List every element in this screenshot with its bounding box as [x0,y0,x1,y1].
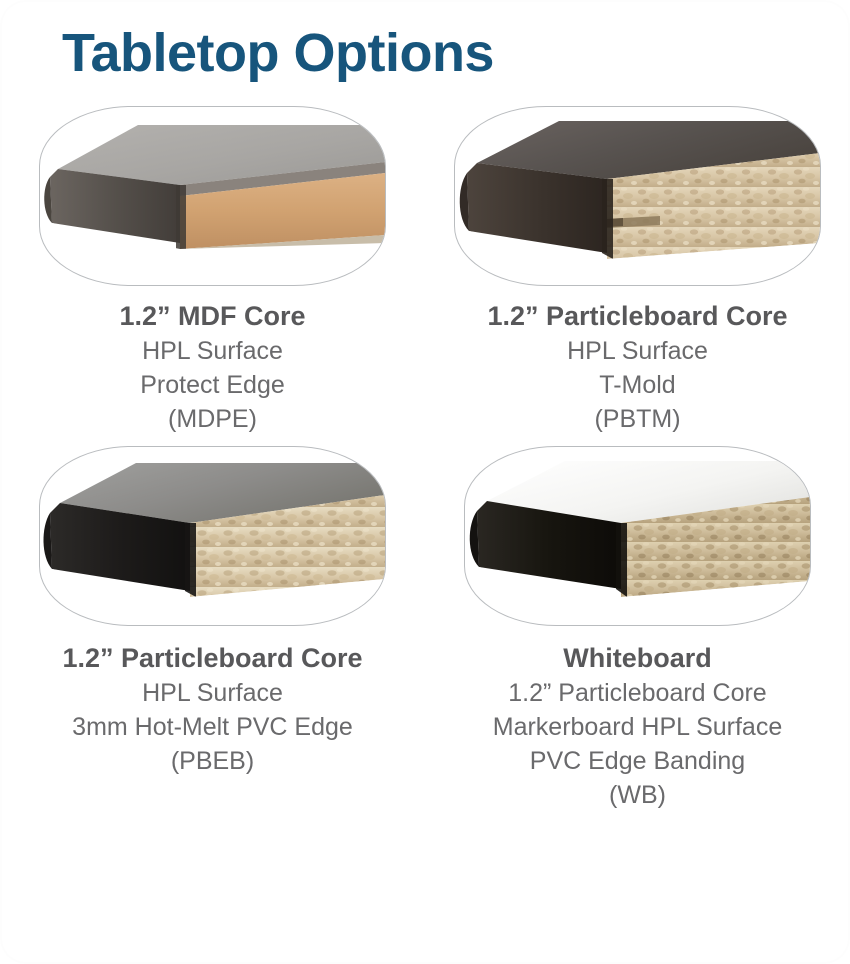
option-caption: 1.2” Particleboard Core HPL Surface T-Mo… [487,298,787,436]
whiteboard-markerboard-sample [464,446,811,626]
option-line-1: HPL Surface [119,334,305,368]
options-grid: 1.2” MDF Core HPL Surface Protect Edge (… [0,106,850,812]
page-title: Tabletop Options [0,0,850,84]
option-caption: 1.2” MDF Core HPL Surface Protect Edge (… [119,298,305,436]
option-line-2: T-Mold [487,368,787,402]
option-title: 1.2” MDF Core [119,298,305,334]
option-caption: Whiteboard 1.2” Particleboard Core Marke… [493,640,782,812]
option-code: (PBTM) [487,402,787,436]
options-row-top: 1.2” MDF Core HPL Surface Protect Edge (… [0,106,850,436]
option-card-wb[interactable]: Whiteboard 1.2” Particleboard Core Marke… [425,436,850,812]
tabletop-corner-illustration [455,107,820,285]
option-title: 1.2” Particleboard Core [487,298,787,334]
tabletop-corner-illustration [40,447,385,625]
particleboard-core-pvc-edge-sample [39,446,386,626]
option-caption: 1.2” Particleboard Core HPL Surface 3mm … [62,640,362,778]
tabletop-corner-illustration [465,447,810,625]
options-row-bottom: 1.2” Particleboard Core HPL Surface 3mm … [0,436,850,812]
option-code: (PBEB) [62,744,362,778]
option-title: Whiteboard [493,640,782,676]
option-line-2: 3mm Hot-Melt PVC Edge [62,710,362,744]
option-line-1: HPL Surface [62,676,362,710]
option-card-pbeb[interactable]: 1.2” Particleboard Core HPL Surface 3mm … [0,436,425,812]
option-line-1: 1.2” Particleboard Core [493,676,782,710]
mdf-core-protect-edge-sample [39,106,386,286]
tabletop-corner-illustration [40,107,385,285]
option-line-1: HPL Surface [487,334,787,368]
option-line-3: PVC Edge Banding [493,744,782,778]
option-code: (MDPE) [119,402,305,436]
option-card-mdpe[interactable]: 1.2” MDF Core HPL Surface Protect Edge (… [0,106,425,436]
option-line-2: Protect Edge [119,368,305,402]
option-title: 1.2” Particleboard Core [62,640,362,676]
option-code: (WB) [493,778,782,812]
particleboard-core-t-mold-sample [454,106,821,286]
option-card-pbtm[interactable]: 1.2” Particleboard Core HPL Surface T-Mo… [425,106,850,436]
tabletop-options-page: Tabletop Options [0,0,850,964]
option-line-2: Markerboard HPL Surface [493,710,782,744]
